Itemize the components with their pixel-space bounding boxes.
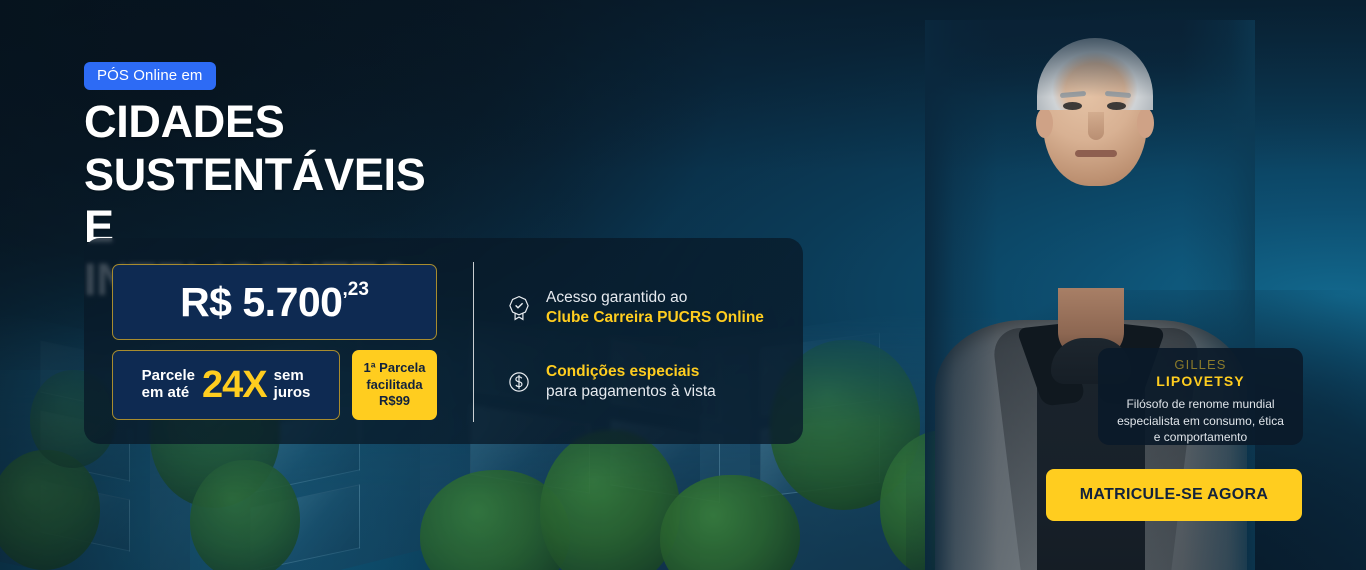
enroll-now-button[interactable]: MATRICULE-SE AGORA — [1046, 469, 1302, 521]
card-divider — [473, 262, 474, 422]
benefit-line-2: Clube Carreira PUCRS Online — [546, 308, 764, 328]
installment-prefix: Parcele em até — [142, 368, 195, 402]
speaker-info-card: GILLES LIPOVETSY Filósofo de renome mund… — [1098, 348, 1303, 445]
installment-box: Parcele em até 24X sem juros — [112, 350, 340, 420]
offer-card: R$ 5.700,23 Parcele em até 24X sem juros… — [84, 238, 803, 444]
course-type-badge: PÓS Online em — [84, 62, 216, 90]
speaker-ear-left — [1036, 108, 1053, 138]
speaker-description: Filósofo de renome mundial especialista … — [1110, 396, 1291, 446]
benefit-item: Acesso garantido ao Clube Carreira PUCRS… — [508, 288, 764, 329]
speaker-eye-right — [1107, 102, 1126, 110]
benefit-text: Acesso garantido ao Clube Carreira PUCRS… — [546, 288, 764, 329]
speaker-hair — [1037, 38, 1153, 110]
benefits-list: Acesso garantido ao Clube Carreira PUCRS… — [508, 288, 764, 436]
benefit-text: Condições especiais para pagamentos à vi… — [546, 362, 716, 403]
benefit-line-2: para pagamentos à vista — [546, 382, 716, 402]
speaker-mouth — [1075, 150, 1117, 157]
dollar-circle-icon — [508, 369, 530, 395]
price-box: R$ 5.700,23 — [112, 264, 437, 340]
price-amount: R$ 5.700 — [180, 282, 342, 323]
award-badge-icon — [508, 295, 530, 321]
benefit-line-1: Condições especiais — [546, 362, 716, 382]
promo-banner: PÓS Online em CIDADES SUSTENTÁVEIS E INT… — [0, 0, 1366, 570]
speaker-first-name: GILLES — [1110, 357, 1291, 373]
speaker-nose — [1088, 112, 1104, 140]
speaker-last-name: LIPOVETSY — [1110, 373, 1291, 391]
installment-suffix: sem juros — [274, 368, 311, 402]
price-cents: ,23 — [342, 280, 368, 299]
benefit-item: Condições especiais para pagamentos à vi… — [508, 362, 764, 403]
installment-count: 24X — [202, 366, 267, 404]
first-installment-box: 1ª Parcela facilitada R$99 — [352, 350, 437, 420]
benefit-line-1: Acesso garantido ao — [546, 288, 764, 308]
speaker-ear-right — [1137, 108, 1154, 138]
speaker-eye-left — [1063, 102, 1082, 110]
